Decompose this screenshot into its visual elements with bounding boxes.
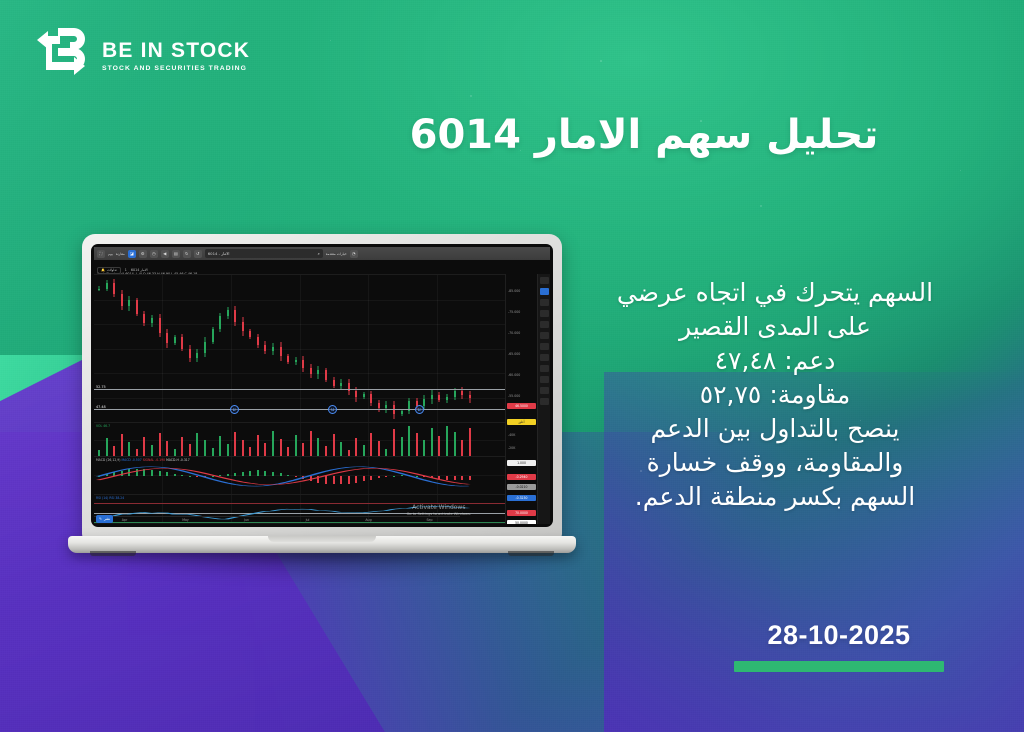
price-axis-tag: -0.3230 [507,495,536,501]
grid-line-horizontal [94,373,505,374]
drawing-tools-sidebar [537,274,550,524]
candle-body [355,391,357,397]
candle-body [219,316,221,330]
macd-title: MACD (26,12,9) [96,458,120,462]
candlestick [219,275,221,422]
candle-body [151,318,153,323]
candlestick [121,275,123,422]
volume-bar [106,438,108,456]
candlestick [227,275,229,422]
candle-body [128,300,130,306]
volume-bar [295,435,297,456]
grid-line-horizontal [94,398,505,399]
chart-marker[interactable]: ⵡ [415,405,424,414]
volume-bar [355,438,357,456]
candlestick [98,275,100,422]
candlestick [264,275,266,422]
volume-bar [469,428,471,456]
volume-bar [317,438,319,455]
volume-bar [416,433,418,456]
candlestick [317,275,319,422]
volume-bar [212,448,214,456]
candle-body [295,360,297,363]
fullscreen-icon[interactable]: ⛶ [97,250,105,258]
volume-bar [121,434,123,456]
price-axis-label: -60.000 [508,373,520,377]
macd-signal-value: SIGNAL -0.190 [143,458,165,462]
candle-body [363,394,365,397]
candle-body [340,383,342,386]
date-block: 28-10-2025 [734,620,944,672]
candle-body [272,347,274,350]
price-axis-tag: أغلق [507,419,536,425]
candle-body [98,289,100,290]
volume-bar [143,437,145,455]
volume-bar [272,431,274,456]
candle-body [204,342,206,353]
candle-body [325,370,327,379]
volume-pane[interactable]: VOL 46.7 [94,422,505,455]
candle-body [143,314,145,324]
volume-bar [431,428,433,455]
candlestick [355,275,357,422]
volume-bar [408,426,410,456]
candlestick [431,275,433,422]
rsi-pane-header: RSI (14) RSI 38.24 [96,496,124,500]
price-axis-tag: -0.0210 [507,484,536,490]
volume-axis-label: -20K [508,446,515,450]
support-line-label: 47.48 [95,405,107,409]
macd-pane[interactable]: MACD (26,12,9) MACD -0.507 SIGNAL -0.190… [94,456,505,494]
candle-body [242,322,244,332]
page-title: تحليل سهم الامار 6014 [300,112,988,158]
candlestick [280,275,282,422]
date-underline-rule [734,661,944,672]
price-axis-label: -70.000 [508,331,520,335]
laptop-base [68,536,576,553]
candlestick [446,275,448,422]
brand-logo: BE IN STOCK STOCK AND SECURITIES TRADING [34,26,250,84]
candle-body [159,318,161,333]
volume-axis-label: -40K [508,433,515,437]
watermark-line1: Activate Windows [407,504,471,511]
chart-area: 52.7547.48ⵡⵡⵡ VOL 46.7 MACD (26,12,9) MA… [94,274,550,524]
toolbar-layout-label[interactable]: خيارات متقدمة [326,252,347,256]
trash-icon[interactable] [540,398,549,405]
cursor-icon[interactable] [540,277,549,284]
candlestick [340,275,342,422]
candle-body [333,380,335,386]
patterns-icon[interactable] [540,343,549,350]
volume-bar [363,445,365,455]
volume-bar [189,444,191,455]
symbol-search-value: الامار - 6014 [208,251,230,256]
brush-icon[interactable] [540,321,549,328]
price-pane[interactable]: 52.7547.48ⵡⵡⵡ [94,274,505,422]
candlestick [159,275,161,422]
candle-body [378,403,380,408]
toolbar-interval-label[interactable]: يوم [108,252,113,256]
magnet-icon[interactable] [540,365,549,372]
candle-body [249,331,251,337]
candle-body [196,353,198,359]
volume-bar [310,431,312,456]
text-icon[interactable] [540,332,549,339]
chart-marker[interactable]: ⵡ [328,405,337,414]
grid-line-horizontal [94,349,505,350]
candlestick [143,275,145,422]
candlestick [393,275,395,422]
candle-body [438,395,440,400]
eye-icon[interactable] [540,387,549,394]
candlestick [333,275,335,422]
volume-bar [370,433,372,455]
legend-alerts-pill[interactable]: 🔔 تداولات [97,267,121,274]
volume-bar [378,441,380,456]
clock-icon[interactable]: ◷ [150,250,158,258]
laptop-foot [508,551,554,556]
volume-bar [280,439,282,456]
chart-panes: 52.7547.48ⵡⵡⵡ VOL 46.7 MACD (26,12,9) MA… [94,274,505,524]
candlestick [166,275,168,422]
laptop-base-notch [268,536,376,542]
toolbar-replay-label[interactable]: مقارنة [116,252,125,256]
support-line [94,409,505,410]
volume-bar [181,437,183,456]
candle-body [181,337,183,349]
candlestick [438,275,440,422]
volume-bar [128,442,130,456]
price-axis-tag: 50.0000 [507,520,536,524]
candle-body [370,394,372,403]
candles-icon[interactable]: ▤ [172,250,180,258]
candlestick [174,275,176,422]
analysis-line-support: دعم: ٤٧,٤٨ [560,344,990,378]
laptop-bezel: ◔ خيارات متقدمة ⌕ الامار - 6014 ↺ ↻ ▤ ◀ … [91,244,553,527]
candle-body [121,294,123,306]
chart-marker[interactable]: ⵡ [230,405,239,414]
brand-name: BE IN STOCK [102,40,250,61]
publish-date: 28-10-2025 [734,620,944,651]
candlestick [272,275,274,422]
candlestick [234,275,236,422]
analysis-line: السهم بكسر منطقة الدعم. [560,480,990,514]
candle-body [287,356,289,362]
price-axis-label: -65.000 [508,352,520,356]
candle-body [257,337,259,345]
price-axis-tag: 70.0000 [507,510,536,516]
candlestick [249,275,251,422]
candlestick [204,275,206,422]
volume-bar [461,440,463,456]
trading-platform-screen: ◔ خيارات متقدمة ⌕ الامار - 6014 ↺ ↻ ▤ ◀ … [94,247,550,524]
candlestick [181,275,183,422]
volume-bar [166,441,168,456]
candle-body [446,397,448,400]
candlestick [287,275,289,422]
volume-bar [219,436,221,456]
undo-icon[interactable]: ↺ [194,250,202,258]
be-in-stock-arrows-logo-icon [34,26,90,84]
profile-icon[interactable]: ◔ [350,250,358,258]
candlestick [385,275,387,422]
analysis-line: على المدى القصير [560,310,990,344]
candle-body [166,333,168,343]
volume-bar [423,440,425,455]
volume-bar [159,433,161,456]
time-axis: Apr May Jun Jul Aug Sep [94,516,460,523]
macd-value: MACD -0.507 [121,458,141,462]
candle-body [106,283,108,289]
candlestick [302,275,304,422]
shapes-icon[interactable] [540,310,549,317]
legend-symbol: الامار 6014 [131,268,148,272]
symbol-search-input[interactable]: ⌕ الامار - 6014 [205,249,323,258]
analysis-line: والمقاومة، ووقف خسارة [560,446,990,480]
volume-bar [385,449,387,456]
candlestick [295,275,297,422]
volume-bar [151,445,153,456]
price-axis-tag: 46.5000 [507,403,536,409]
measure-icon[interactable] [540,354,549,361]
price-axis-tag: -0.2940 [507,474,536,480]
fib-icon[interactable] [540,299,549,306]
settings-icon[interactable]: ⚙ [139,250,147,258]
volume-bar [393,429,395,456]
candlestick [242,275,244,422]
resistance-line-label: 52.75 [95,385,107,389]
candlestick [378,275,380,422]
volume-bar [227,444,229,456]
sparkle [760,205,762,207]
sparkle [470,95,472,97]
candle-body [189,349,191,359]
candlestick [423,275,425,422]
volume-bar [287,447,289,456]
analysis-line-resistance: مقاومة: ٥٢,٧٥ [560,378,990,412]
volume-bar [249,447,251,455]
volume-bar [196,433,198,456]
windows-activation-watermark: Activate Windows Go to Settings to activ… [407,504,471,516]
candlestick [106,275,108,422]
grid-line-horizontal [94,324,505,325]
volume-bar [302,443,304,456]
candle-body [280,347,282,356]
candlestick [196,275,198,422]
brand-tagline: STOCK AND SECURITIES TRADING [102,65,250,72]
price-axis-label: -75.000 [508,310,520,314]
candle-body [302,360,304,369]
candlestick [257,275,259,422]
candle-body [310,368,312,374]
bell-icon: 🔔 [101,268,105,272]
volume-bar [264,443,266,456]
candlestick [128,275,130,422]
publish-button-label: نشر [104,517,110,521]
volume-bar [257,435,259,455]
candlestick [469,275,471,422]
candlestick [212,275,214,422]
publish-button[interactable]: ✎ نشر [96,515,113,523]
pencil-icon: ✎ [99,517,102,521]
volume-bar [242,440,244,456]
volume-bar [234,432,236,456]
sparkle [600,60,602,62]
volume-bar [204,440,206,455]
candle-body [431,395,433,400]
candle-body [136,300,138,314]
candlestick [136,275,138,422]
chart-status-bar [94,523,505,524]
macd-pane-header: MACD (26,12,9) MACD -0.507 SIGNAL -0.190… [96,458,190,462]
volume-bar [446,426,448,456]
volume-pane-header: VOL 46.7 [96,424,110,428]
laptop-foot [90,551,136,556]
laptop-lid: ◔ خيارات متقدمة ⌕ الامار - 6014 ↺ ↻ ▤ ◀ … [82,234,562,539]
indicator-icon[interactable]: ◪ [128,250,136,258]
volume-bar [174,449,176,456]
analysis-text: السهم يتحرك في اتجاه عرضي على المدى القص… [560,276,990,514]
candlestick [151,275,153,422]
candle-body [401,411,403,414]
grid-line-horizontal [94,300,505,301]
candlestick [363,275,365,422]
candle-body [348,383,350,392]
candlestick [348,275,350,422]
analysis-line: ينصح بالتداول بين الدعم [560,412,990,446]
lock-icon[interactable] [540,376,549,383]
price-axis-tag: 1.000 [507,460,536,466]
candlestick [408,275,410,422]
candle-body [469,395,471,398]
candlestick [189,275,191,422]
candle-body [317,370,319,373]
candlestick [461,275,463,422]
candle-body [212,329,214,341]
candle-body [227,310,229,316]
volume-bar [333,434,335,456]
candle-body [234,310,236,322]
volume-bar [401,437,403,456]
trendline-icon[interactable] [540,288,549,295]
analysis-line: السهم يتحرك في اتجاه عرضي [560,276,990,310]
search-icon: ⌕ [318,251,320,256]
candle-body [264,345,266,351]
candlestick [310,275,312,422]
candlestick [325,275,327,422]
candlestick [370,275,372,422]
alert-icon[interactable]: ◀ [161,250,169,258]
chart-toolbar: ◔ خيارات متقدمة ⌕ الامار - 6014 ↺ ↻ ▤ ◀ … [94,247,550,260]
candle-body [454,391,456,396]
candle-body [113,283,115,294]
macd-lines [94,457,505,494]
laptop-mockup: ◔ خيارات متقدمة ⌕ الامار - 6014 ↺ ↻ ▤ ◀ … [82,234,574,586]
volume-bar [113,446,115,456]
volume-bar [325,446,327,456]
candlestick [401,275,403,422]
price-axis[interactable]: -85.000-75.000-70.000-65.000-60.000-55.0… [505,274,537,524]
volume-bar [438,436,440,456]
candle-body [174,337,176,343]
legend-alerts-label: تداولات [107,268,117,272]
candle-body [423,399,425,406]
legend-timeframe: 1 [125,268,127,272]
grid-line-horizontal [94,440,505,441]
volume-bar [340,442,342,456]
candlestick [416,275,418,422]
candle-body [461,391,463,395]
volume-bar [454,432,456,456]
candlestick [113,275,115,422]
price-axis-label: -85.000 [508,289,520,293]
resistance-line [94,389,505,390]
macd-hist-value: MACD-H -0.317 [166,458,190,462]
candlestick [454,275,456,422]
price-axis-label: -55.000 [508,394,520,398]
redo-icon[interactable]: ↻ [183,250,191,258]
